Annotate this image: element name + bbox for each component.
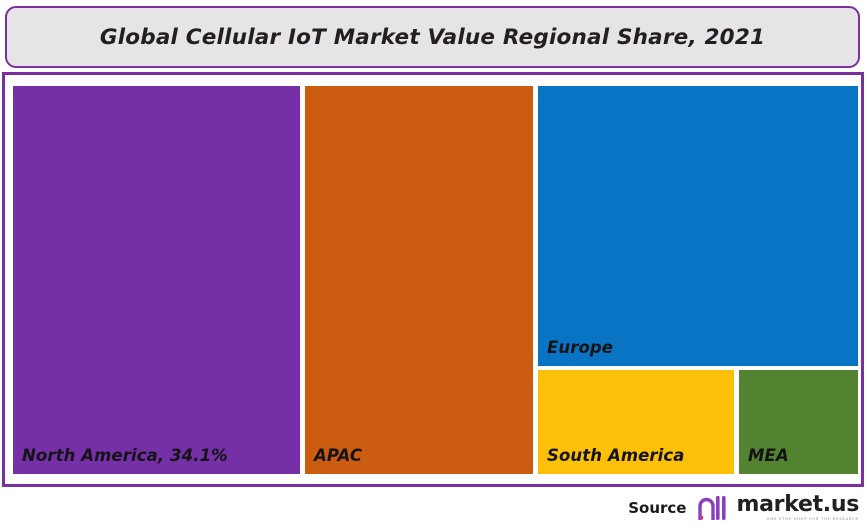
treemap-cell-south-america[interactable]: South America [538,370,734,474]
logo-tagline: ONE STOP SHOP FOR THE RESEARCH [736,518,859,522]
page-title: Global Cellular IoT Market Value Regiona… [100,25,765,50]
chart-page: Global Cellular IoT Market Value Regiona… [0,0,867,525]
source-footer: Source market.us ONE STOP SHOP FOR THE R… [0,490,867,525]
treemap-cell-label-apac: APAC [314,446,362,465]
market-us-wordmark: market.us ONE STOP SHOP FOR THE RESEARCH [736,494,859,522]
chart-title-box: Global Cellular IoT Market Value Regiona… [5,6,860,68]
treemap-cell-europe[interactable]: Europe [538,86,858,366]
treemap-cell-label-south-america: South America [547,446,685,465]
market-us-logo[interactable]: market.us ONE STOP SHOP FOR THE RESEARCH [696,494,859,522]
logo-name: market.us [736,494,859,516]
treemap-cell-north-america[interactable]: North America, 34.1% [13,86,300,474]
treemap-cell-apac[interactable]: APAC [305,86,533,474]
market-us-logo-icon [696,494,736,522]
treemap-cell-label-north-america: North America, 34.1% [22,446,228,465]
treemap-cell-mea[interactable]: MEA [739,370,858,474]
treemap-cell-label-europe: Europe [547,338,613,357]
treemap-frame: North America, 34.1% APAC Europe South A… [2,72,864,487]
treemap-cell-label-mea: MEA [748,446,789,465]
treemap-plot: North America, 34.1% APAC Europe South A… [5,75,867,490]
source-label: Source [628,499,686,517]
